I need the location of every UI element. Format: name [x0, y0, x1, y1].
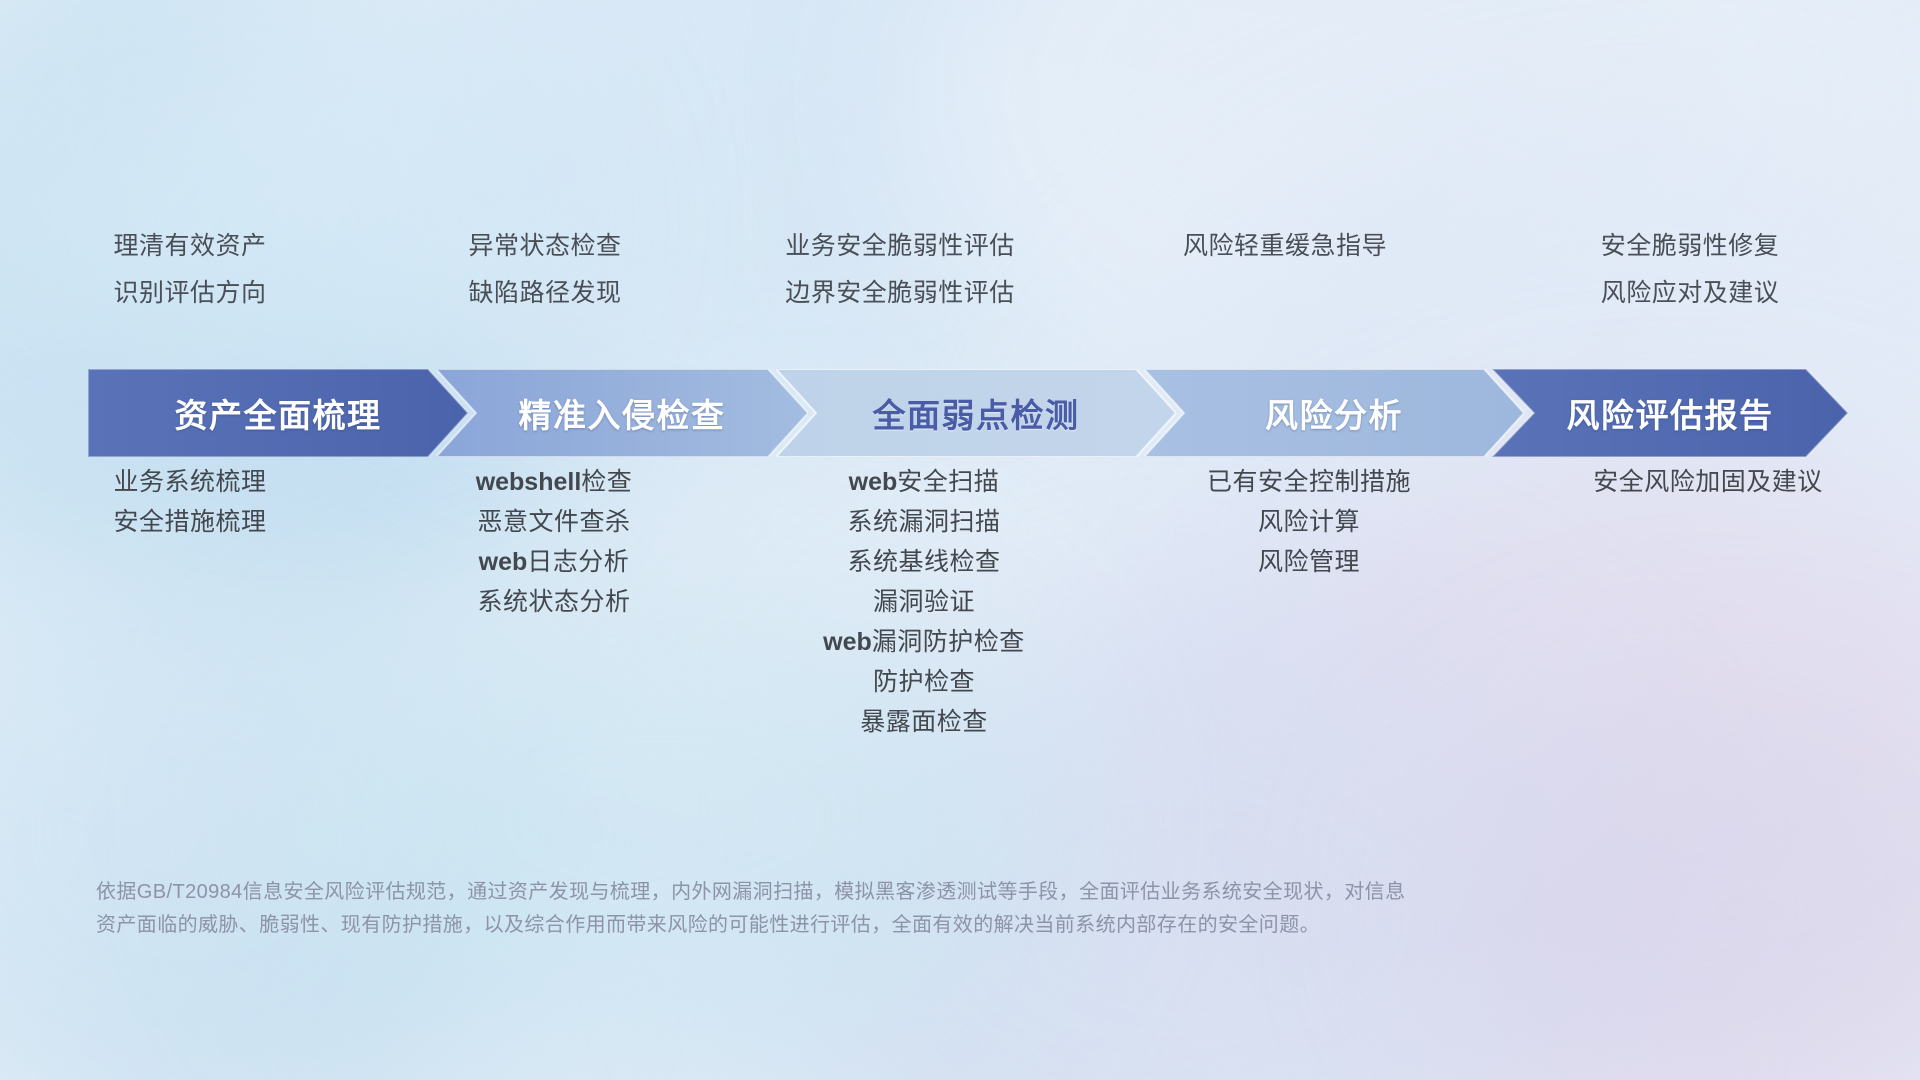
list-item-zh: 系统状态分析 — [477, 588, 630, 616]
bottom-group-risk-analysis: 已有安全控制措施 风险计算 风险管理 — [1120, 470, 1498, 590]
stage-chevron-asset-inventory[interactable]: 资产全面梳理 — [88, 369, 468, 457]
list-item-zh: 系统基线检查 — [847, 548, 1000, 576]
list-item-zh: 安全措施梳理 — [113, 508, 266, 536]
list-item-zh: 已有安全控制措施 — [1207, 468, 1411, 496]
stage-label: 精准入侵检查 — [519, 389, 726, 437]
list-item-zh: 系统漏洞扫描 — [847, 508, 1000, 536]
stage-label: 风险分析 — [1265, 389, 1403, 437]
list-item: 漏洞验证 — [873, 590, 975, 615]
bottom-group-intrusion-check: webshell检查 恶意文件查杀 web日志分析 系统状态分析 — [380, 470, 728, 630]
list-item-zh: 漏洞验证 — [873, 588, 975, 616]
bottom-group-weakness-detection: web安全扫描 系统漏洞扫描 系统基线检查 漏洞验证 web漏洞防护检查 防护检… — [728, 470, 1120, 750]
list-item-en: web — [823, 628, 872, 656]
list-item-zh: 检查 — [581, 468, 632, 496]
list-item-en: webshell — [476, 468, 582, 496]
list-item: 安全风险加固及建议 — [1593, 470, 1823, 495]
footer-line: 资产面临的威胁、脆弱性、现有防护措施，以及综合作用而带来风险的可能性进行评估，全… — [96, 909, 1656, 942]
bottom-group-assessment-report: 安全风险加固及建议 — [1498, 470, 1918, 510]
list-item-zh: 风险计算 — [1258, 508, 1360, 536]
list-item-zh: 暴露面检查 — [860, 708, 988, 736]
list-item: 风险计算 — [1258, 510, 1360, 535]
top-group-intrusion-check: 异常状态检查 缺陷路径发现 — [380, 234, 710, 306]
top-item: 识别评估方向 — [113, 281, 266, 306]
top-item: 风险轻重缓急指导 — [1183, 234, 1387, 259]
list-item: web日志分析 — [479, 550, 630, 575]
top-item: 安全脆弱性修复 — [1601, 234, 1780, 259]
list-item: webshell检查 — [476, 470, 633, 495]
list-item: 暴露面检查 — [860, 710, 988, 735]
list-item: 安全措施梳理 — [113, 510, 266, 535]
stage-chevron-intrusion-check[interactable]: 精准入侵检查 — [436, 369, 808, 457]
top-group-asset-inventory: 理清有效资产 识别评估方向 — [0, 234, 380, 306]
top-item: 缺陷路径发现 — [468, 281, 621, 306]
list-item-en: web — [849, 468, 898, 496]
list-item-zh: 恶意文件查杀 — [477, 508, 630, 536]
list-item-zh: 防护检查 — [873, 668, 975, 696]
list-item: 系统基线检查 — [847, 550, 1000, 575]
list-item: 恶意文件查杀 — [477, 510, 630, 535]
list-item-zh: 安全扫描 — [897, 468, 999, 496]
stage-chevron-weakness-detection[interactable]: 全面弱点检测 — [776, 369, 1176, 457]
top-item: 风险应对及建议 — [1601, 281, 1780, 306]
top-item: 异常状态检查 — [468, 234, 621, 259]
list-item: 系统状态分析 — [477, 590, 630, 615]
list-item: 系统漏洞扫描 — [847, 510, 1000, 535]
stage-chevron-banner: 资产全面梳理 精准入侵检查 — [88, 369, 1848, 457]
top-group-risk-analysis: 风险轻重缓急指导 — [1090, 234, 1480, 306]
bottom-detail-row: 业务系统梳理 安全措施梳理 webshell检查 恶意文件查杀 web日志分析 … — [0, 470, 1920, 750]
list-item: 已有安全控制措施 — [1207, 470, 1411, 495]
top-group-weakness-detection: 业务安全脆弱性评估 边界安全脆弱性评估 — [710, 234, 1090, 306]
list-item-zh: 日志分析 — [527, 548, 629, 576]
top-item: 边界安全脆弱性评估 — [785, 281, 1015, 306]
stage-label: 全面弱点检测 — [873, 389, 1080, 437]
list-item: 风险管理 — [1258, 550, 1360, 575]
list-item: web安全扫描 — [849, 470, 1000, 495]
top-group-assessment-report: 安全脆弱性修复 风险应对及建议 — [1480, 234, 1900, 306]
process-flow-diagram: 理清有效资产 识别评估方向 异常状态检查 缺陷路径发现 业务安全脆弱性评估 边界… — [0, 0, 1920, 1080]
stage-label: 风险评估报告 — [1567, 389, 1774, 437]
list-item-zh: 安全风险加固及建议 — [1593, 468, 1823, 496]
list-item-en: web — [479, 548, 528, 576]
footer-line: 依据GB/T20984信息安全风险评估规范，通过资产发现与梳理，内外网漏洞扫描，… — [96, 876, 1656, 909]
list-item-zh: 风险管理 — [1258, 548, 1360, 576]
bottom-group-asset-inventory: 业务系统梳理 安全措施梳理 — [0, 470, 380, 550]
stage-label: 资产全面梳理 — [175, 389, 382, 437]
top-descriptor-row: 理清有效资产 识别评估方向 异常状态检查 缺陷路径发现 业务安全脆弱性评估 边界… — [0, 234, 1920, 306]
footer-description: 依据GB/T20984信息安全风险评估规范，通过资产发现与梳理，内外网漏洞扫描，… — [96, 876, 1656, 942]
list-item-zh: 漏洞防护检查 — [872, 628, 1025, 656]
list-item-zh: 业务系统梳理 — [113, 468, 266, 496]
stage-chevron-assessment-report[interactable]: 风险评估报告 — [1492, 369, 1848, 457]
list-item: web漏洞防护检查 — [823, 630, 1025, 655]
top-item: 理清有效资产 — [113, 234, 266, 259]
top-item: 业务安全脆弱性评估 — [785, 234, 1015, 259]
list-item: 业务系统梳理 — [113, 470, 266, 495]
stage-chevron-risk-analysis[interactable]: 风险分析 — [1144, 369, 1524, 457]
list-item: 防护检查 — [873, 670, 975, 695]
